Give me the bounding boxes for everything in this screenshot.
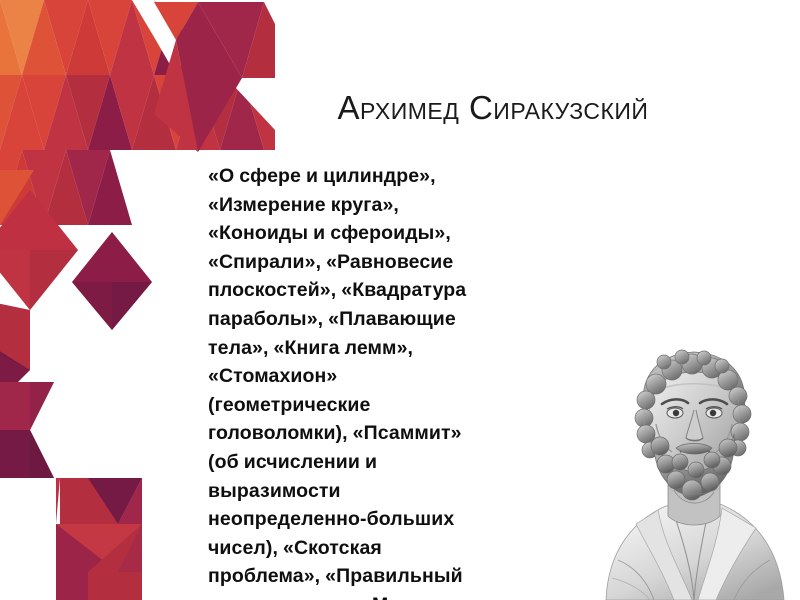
mosaic-lower-cluster [0,382,142,600]
slide-canvas: Архимед Сиракузский «О сфере и цилиндре»… [0,0,800,600]
works-list-text: «О сфере и цилиндре», «Измерение круга»,… [208,162,480,600]
archimedes-bust-svg [588,338,800,600]
archimedes-bust-portrait [588,338,800,600]
page-title: Архимед Сиракузский [208,88,778,128]
